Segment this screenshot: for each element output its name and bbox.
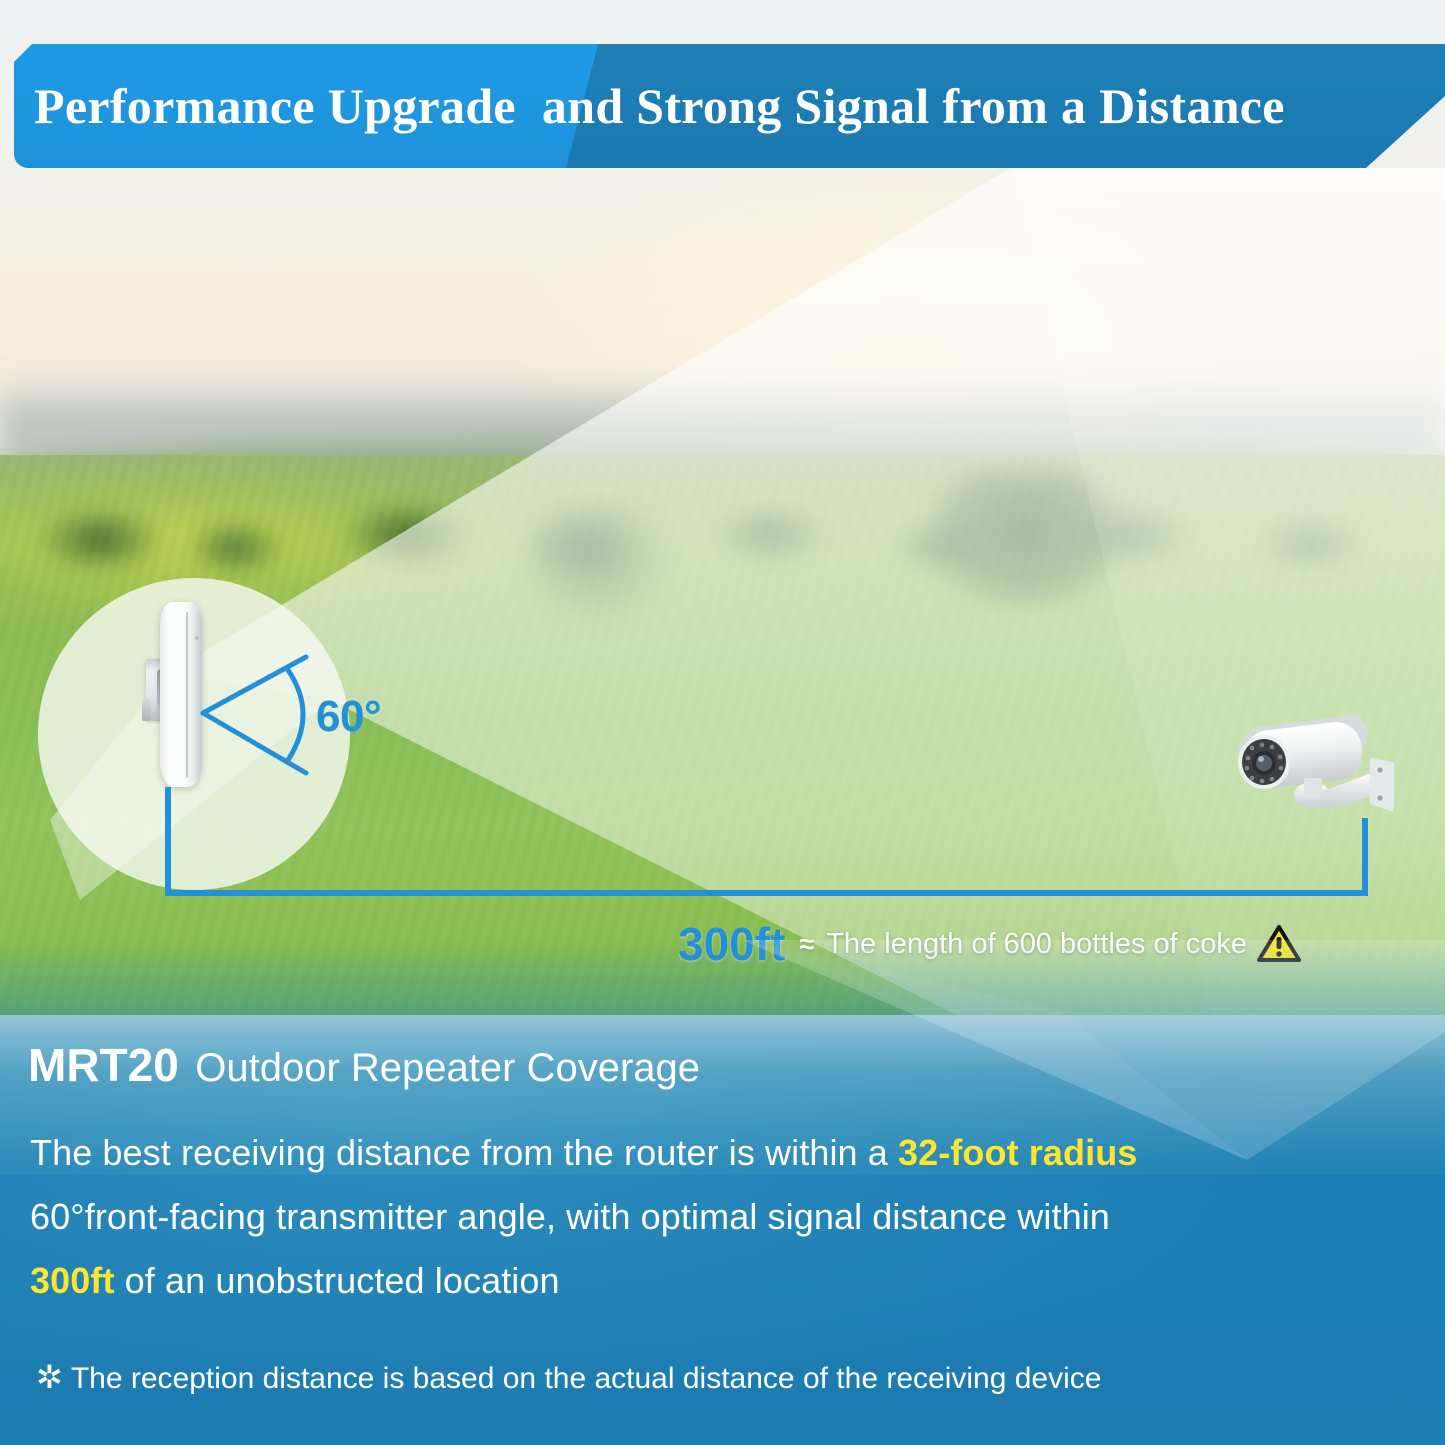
plate-screw bbox=[1377, 767, 1382, 772]
description-line-1-highlight: 32-foot radius bbox=[898, 1132, 1137, 1173]
footnote-text: The reception distance is based on the a… bbox=[71, 1362, 1102, 1395]
footnote: ✲The reception distance is based on the … bbox=[36, 1358, 1101, 1396]
camera-lens-glass bbox=[1256, 755, 1272, 771]
banner-title: Performance Upgrade and Strong Signal fr… bbox=[0, 44, 1445, 168]
camera-lens-reflection bbox=[1258, 756, 1264, 762]
product-headline: MRT20 Outdoor Repeater Coverage bbox=[28, 1038, 700, 1092]
plate-screw bbox=[1377, 795, 1382, 800]
description-line-2-text: 60°front-facing transmitter angle, with … bbox=[30, 1196, 1110, 1237]
description-line-3: 300ft of an unobstructed location bbox=[30, 1260, 560, 1302]
product-infographic: 60° bbox=[0, 0, 1445, 1445]
angle-line-lower bbox=[203, 713, 306, 773]
description-line-1-text: The best receiving distance from the rou… bbox=[30, 1132, 898, 1173]
product-subtitle: Outdoor Repeater Coverage bbox=[195, 1046, 700, 1090]
header-banner: Performance Upgrade and Strong Signal fr… bbox=[0, 44, 1445, 168]
angle-label: 60° bbox=[316, 692, 381, 742]
camera-wall-plate bbox=[1370, 758, 1394, 812]
product-model: MRT20 bbox=[28, 1039, 179, 1091]
description-line-1: The best receiving distance from the rou… bbox=[30, 1132, 1137, 1174]
bullet-security-camera bbox=[1208, 700, 1398, 840]
angle-arc bbox=[288, 670, 303, 760]
banner-title-part2: and Strong Signal from a Distance bbox=[542, 77, 1285, 135]
description-line-3-text: of an unobstructed location bbox=[115, 1260, 560, 1301]
description-line-2: 60°front-facing transmitter angle, with … bbox=[30, 1196, 1110, 1238]
camera-neck bbox=[1304, 778, 1322, 794]
footnote-star-icon: ✲ bbox=[36, 1359, 63, 1395]
angle-line-upper bbox=[203, 657, 306, 713]
distance-measure-line bbox=[168, 787, 1365, 893]
banner-title-part1: Performance Upgrade bbox=[34, 77, 516, 135]
description-line-3-highlight: 300ft bbox=[30, 1260, 115, 1301]
